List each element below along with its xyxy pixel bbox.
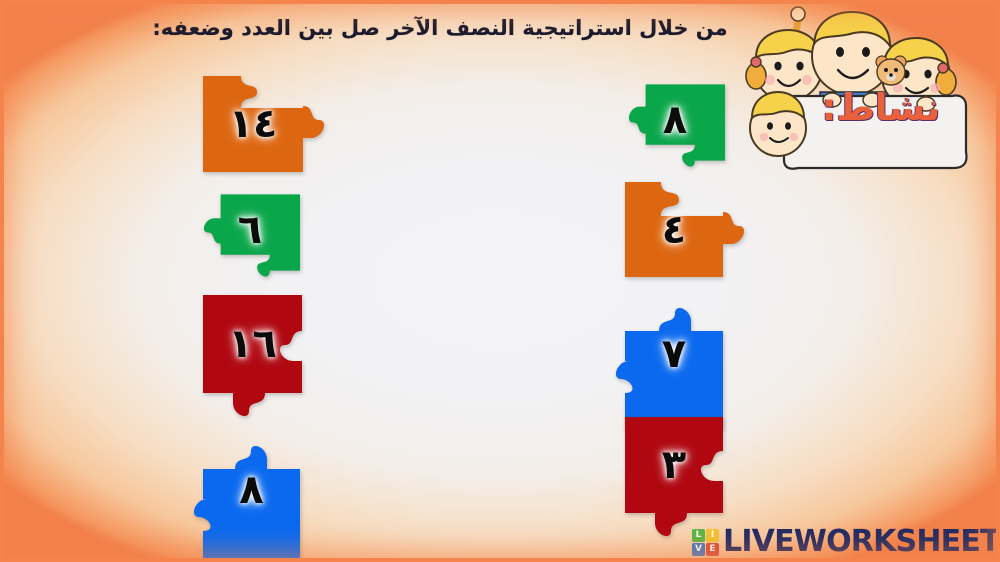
- puzzle-piece-right-7[interactable]: ٧: [625, 305, 723, 403]
- kid-girl-left: [746, 30, 822, 101]
- kid-small-peeking: [750, 92, 806, 156]
- logo-tile-l: L: [692, 529, 705, 542]
- page-title: من خلال استراتيجية النصف الآخر صل بين ال…: [120, 16, 760, 40]
- puzzle-shape-dark-red-right: [625, 417, 723, 541]
- puzzle-piece-left-6[interactable]: ٦: [200, 182, 300, 278]
- teddy-bear: [876, 56, 906, 85]
- puzzle-shape-blue: [203, 443, 300, 562]
- logo-wordmark: LIVEWORKSHEETS: [723, 527, 1000, 557]
- puzzle-shape-dark-red: [203, 295, 302, 421]
- puzzle-piece-left-8[interactable]: ٨: [203, 443, 300, 537]
- puzzle-shape-orange-right: [625, 182, 747, 277]
- puzzle-piece-right-3[interactable]: ٣: [625, 417, 723, 513]
- puzzle-shape-blue-right: [625, 305, 723, 429]
- logo-tiles: L I V E: [692, 529, 719, 556]
- logo-tile-e: E: [706, 543, 719, 556]
- puzzle-piece-left-16[interactable]: ١٦: [203, 295, 302, 393]
- worksheet-slide: من خلال استراتيجية النصف الآخر صل بين ال…: [0, 0, 1000, 562]
- liveworksheets-logo[interactable]: L I V E LIVEWORKSHEETS: [692, 524, 1000, 560]
- puzzle-piece-right-4[interactable]: ٤: [625, 182, 723, 277]
- logo-tile-i: I: [706, 529, 719, 542]
- puzzle-piece-right-8[interactable]: ٨: [625, 72, 725, 168]
- puzzle-piece-left-14[interactable]: ١٤: [203, 76, 303, 172]
- kids-banner-illustration: [740, 0, 992, 172]
- puzzle-shape-orange: [203, 76, 327, 172]
- puzzle-shape-green: [200, 182, 300, 302]
- logo-tile-v: V: [692, 543, 705, 556]
- puzzle-shape-green-right: [625, 72, 725, 192]
